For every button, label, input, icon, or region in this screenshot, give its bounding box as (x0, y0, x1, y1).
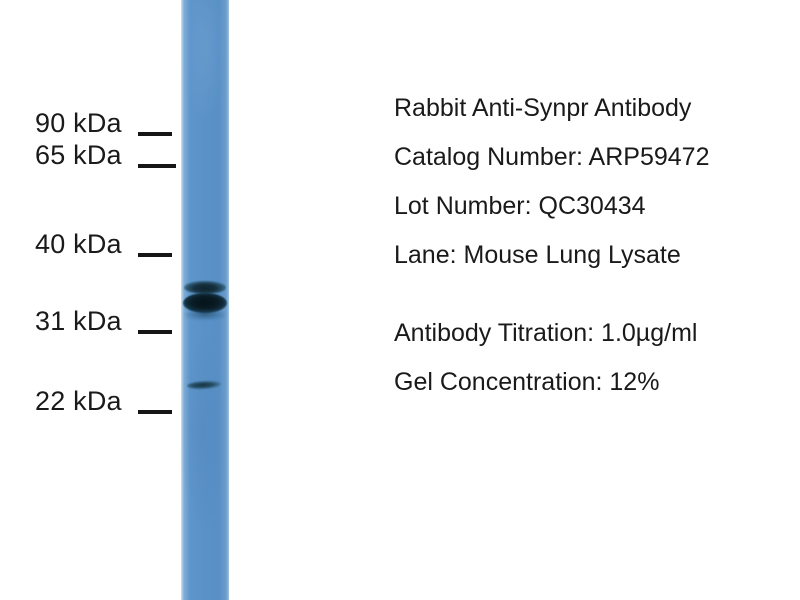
mw-tick-31 (138, 330, 172, 334)
blot-info-group-conditions: Antibody Titration: 1.0µg/ml Gel Concent… (394, 321, 794, 395)
mw-label-31: 31 kDa (35, 306, 122, 336)
antibody-name-line: Rabbit Anti-Synpr Antibody (394, 96, 794, 121)
gel-concentration-line: Gel Concentration: 12% (394, 370, 794, 395)
mw-marker-90: 90 kDa (35, 110, 122, 137)
mw-marker-40: 40 kDa (35, 231, 122, 258)
antibody-titration-line: Antibody Titration: 1.0µg/ml (394, 321, 794, 346)
mw-marker-65: 65 kDa (35, 142, 122, 169)
blot-info-group-primary: Rabbit Anti-Synpr Antibody Catalog Numbe… (394, 96, 794, 268)
mw-marker-31: 31 kDa (35, 308, 122, 335)
mw-label-22: 22 kDa (35, 386, 122, 416)
catalog-number-line: Catalog Number: ARP59472 (394, 145, 794, 170)
mw-label-90: 90 kDa (35, 108, 122, 138)
mw-tick-22 (138, 410, 172, 414)
mw-label-40: 40 kDa (35, 229, 122, 259)
mw-tick-90 (138, 132, 172, 136)
main-band-shadow (185, 310, 225, 320)
blot-info-block: Rabbit Anti-Synpr Antibody Catalog Numbe… (394, 96, 794, 395)
western-blot-figure: 90 kDa 65 kDa 40 kDa 31 kDa 22 kDa Rabbi… (0, 0, 800, 600)
mw-marker-22: 22 kDa (35, 388, 122, 415)
lane-sample-line: Lane: Mouse Lung Lysate (394, 243, 794, 268)
mw-tick-40 (138, 253, 172, 257)
mw-tick-65 (138, 164, 176, 168)
lot-number-line: Lot Number: QC30434 (394, 194, 794, 219)
mw-label-65: 65 kDa (35, 140, 122, 170)
